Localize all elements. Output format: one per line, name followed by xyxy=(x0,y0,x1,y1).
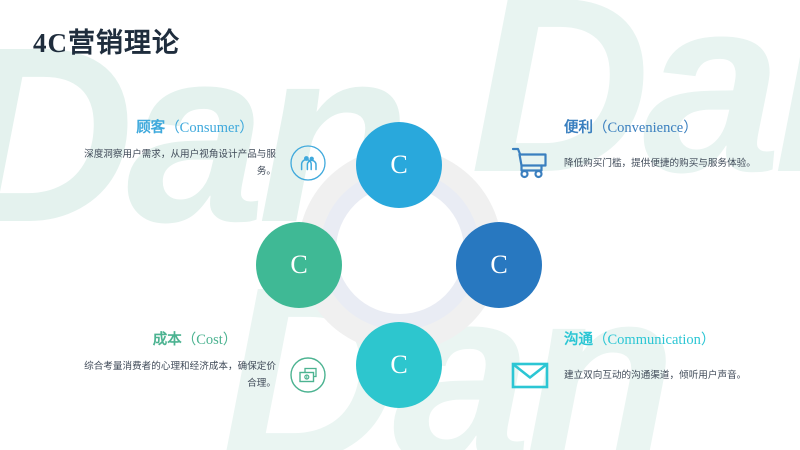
block-body-cost: 综合考量消费者的心理和经济成本，确保定价合理。 xyxy=(76,358,276,392)
heading-cn: 成本 xyxy=(153,332,182,348)
banknote-icon xyxy=(286,353,330,397)
node-letter: C xyxy=(390,350,407,380)
node-letter: C xyxy=(290,250,307,280)
heading-en: （Convenience） xyxy=(593,120,698,136)
block-heading-communication: 沟通（Communication） xyxy=(508,328,800,349)
heading-cn: 沟通 xyxy=(564,332,593,348)
block-body-communication: 建立双向互动的沟通渠道，倾听用户声音。 xyxy=(564,367,764,384)
heading-cn: 顾客 xyxy=(136,120,165,136)
heading-cn: 便利 xyxy=(564,120,593,136)
envelope-icon xyxy=(508,353,552,397)
page-title: 4C营销理论 xyxy=(33,21,180,60)
shopping-cart-icon xyxy=(508,141,552,185)
block-communication: 沟通（Communication） 建立双向互动的沟通渠道，倾听用户声音。 xyxy=(508,328,800,397)
node-circle-consumer[interactable]: C xyxy=(356,122,442,208)
heading-en: （Consumer） xyxy=(165,120,254,136)
block-body-consumer: 深度洞察用户需求，从用户视角设计产品与服务。 xyxy=(76,146,276,180)
node-letter: C xyxy=(490,250,507,280)
block-heading-convenience: 便利（Convenience） xyxy=(508,116,800,137)
block-convenience: 便利（Convenience） 降低购买门槛，提供便捷的购买与服务体验。 xyxy=(508,116,800,185)
node-circle-cost[interactable]: C xyxy=(256,222,342,308)
node-letter: C xyxy=(390,150,407,180)
block-cost: 成本（Cost） 综合考量消费者的心理和经济成本，确保定价合理。 xyxy=(30,328,330,397)
users-icon xyxy=(286,141,330,185)
heading-en: （Communication） xyxy=(593,332,715,348)
node-circle-communication[interactable]: C xyxy=(356,322,442,408)
block-consumer: 顾客（Consumer） 深度洞察用户需求，从用户视角设计产品与服务。 xyxy=(30,116,330,185)
block-heading-cost: 成本（Cost） xyxy=(30,328,330,349)
block-body-convenience: 降低购买门槛，提供便捷的购买与服务体验。 xyxy=(564,155,764,172)
heading-en: （Cost） xyxy=(182,332,238,348)
block-heading-consumer: 顾客（Consumer） xyxy=(30,116,330,137)
node-circle-convenience[interactable]: C xyxy=(456,222,542,308)
slide-canvas: Dan Dan Dan 4C营销理论 C C C C 顾客（Consumer） … xyxy=(0,0,800,450)
